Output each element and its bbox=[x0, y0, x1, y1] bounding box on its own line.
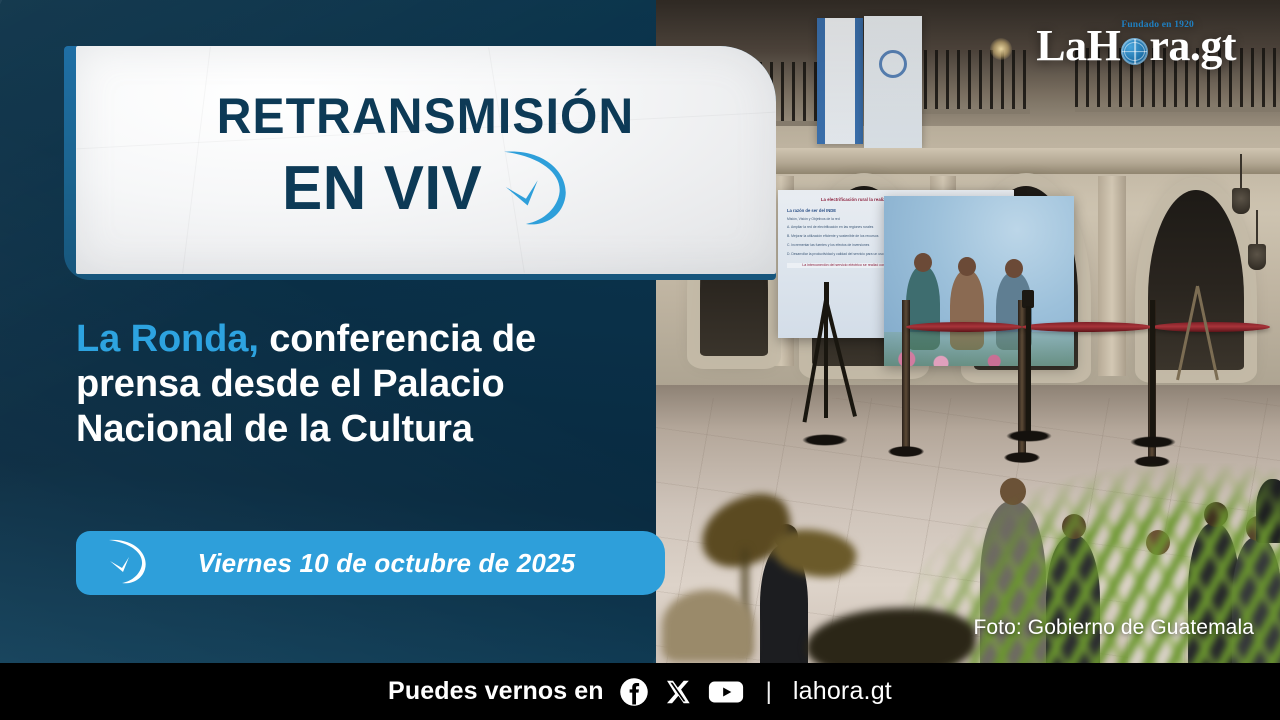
livestream-announcement-graphic: La electrificación rural la realizó el I… bbox=[0, 0, 1280, 720]
retransmision-card: RETRANSMISIÓN EN VIV bbox=[76, 46, 776, 274]
photo-credit: Foto: Gobierno de Guatemala bbox=[973, 616, 1254, 640]
lahora-brand-logo: Fundado en 1920 LaH ra.gt bbox=[1036, 24, 1236, 68]
globe-icon bbox=[1121, 38, 1148, 65]
footer-bar: Puedes vernos en | lahora.gt bbox=[0, 663, 1280, 720]
youtube-icon[interactable] bbox=[707, 678, 745, 706]
lahora-swoosh-icon bbox=[100, 536, 150, 591]
card-kicker: RETRANSMISIÓN bbox=[217, 92, 635, 141]
headline-accent: La Ronda, bbox=[76, 318, 259, 360]
card-live-label: EN VIV bbox=[282, 160, 482, 219]
card-live-row: EN VIV bbox=[279, 145, 573, 234]
footer-label: Puedes vernos en bbox=[388, 677, 604, 706]
brand-name-part1: LaH bbox=[1036, 24, 1120, 68]
brand-name-part2: ra.gt bbox=[1149, 24, 1236, 68]
brand-founded-text: Fundado en 1920 bbox=[1121, 20, 1194, 30]
x-twitter-icon[interactable] bbox=[664, 678, 692, 706]
footer-website: lahora.gt bbox=[793, 677, 892, 706]
facebook-icon[interactable] bbox=[619, 677, 649, 707]
date-pill: Viernes 10 de octubre de 2025 bbox=[76, 531, 665, 595]
page-headline: La Ronda, conferencia de prensa desde el… bbox=[76, 317, 636, 451]
brand-wordmark: LaH ra.gt bbox=[1036, 24, 1236, 68]
lahora-swoosh-icon bbox=[489, 145, 573, 234]
footer-divider: | bbox=[766, 678, 772, 706]
date-text: Viernes 10 de octubre de 2025 bbox=[156, 548, 665, 579]
